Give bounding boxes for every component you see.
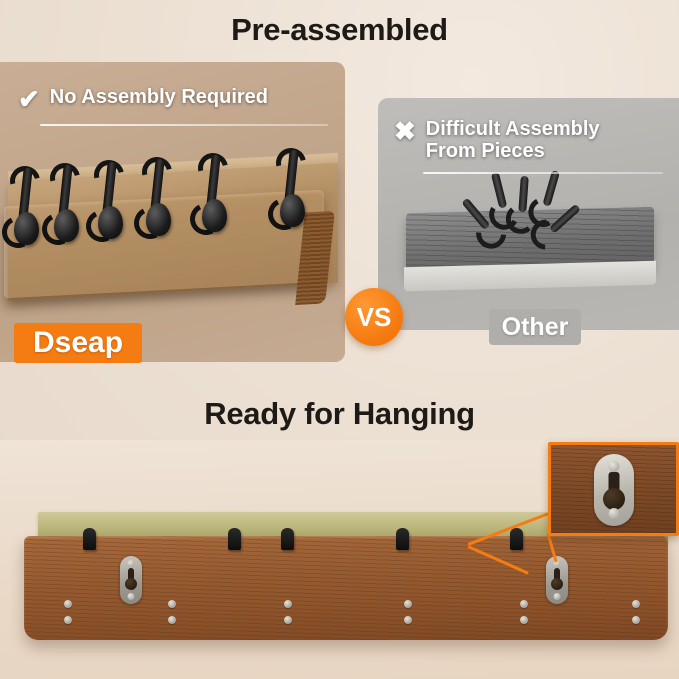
mounting-screw — [632, 616, 640, 624]
page-title-top: Pre-assembled — [0, 12, 679, 48]
coat-hook — [140, 159, 174, 237]
mounting-screw — [284, 616, 292, 624]
mounting-screw — [168, 616, 176, 624]
hook-tip — [281, 528, 294, 550]
keyhole-hanger-zoomed — [594, 454, 634, 526]
mounting-screw — [632, 600, 640, 608]
mounting-screw — [168, 600, 176, 608]
mounting-screw — [520, 616, 528, 624]
versus-badge: VS — [345, 288, 403, 346]
mounting-screw — [64, 616, 72, 624]
coat-hook — [48, 165, 82, 243]
left-panel-heading-group: ✔ No Assembly Required — [18, 86, 268, 112]
mounting-screw — [404, 600, 412, 608]
keyhole-hanger — [546, 556, 568, 604]
right-panel-divider — [423, 172, 663, 174]
mounting-screw — [64, 600, 72, 608]
brand-badge-other: Other — [489, 309, 581, 345]
right-panel-heading-line2: From Pieces — [426, 140, 545, 162]
check-icon: ✔ — [18, 86, 40, 112]
hook-tip — [396, 528, 409, 550]
right-panel-heading-line1: Difficult Assembly — [426, 118, 600, 140]
infographic-root: Pre-assembled ✔ No Assembly Required — [0, 0, 679, 679]
hook-tip — [83, 528, 96, 550]
right-panel-heading-group: ✖ Difficult Assembly From Pieces — [394, 118, 600, 163]
mounting-screw — [520, 600, 528, 608]
mounting-screw — [284, 600, 292, 608]
hook-tip — [510, 528, 523, 550]
keyhole-hanger — [120, 556, 142, 604]
left-panel-divider — [40, 124, 328, 126]
brand-badge-dseap: Dseap — [14, 323, 142, 363]
hook-tip — [228, 528, 241, 550]
coat-hook — [8, 168, 42, 246]
left-panel-heading: No Assembly Required — [50, 86, 268, 108]
right-panel-heading: Difficult Assembly From Pieces — [426, 118, 600, 163]
coat-hook — [92, 162, 126, 240]
keyhole-detail-callout — [548, 442, 679, 536]
cross-icon: ✖ — [394, 118, 416, 144]
mounting-screw — [404, 616, 412, 624]
coat-hook — [274, 150, 308, 228]
panel-dseap: ✔ No Assembly Required — [0, 62, 345, 362]
coat-hook — [196, 155, 230, 233]
panel-other: ✖ Difficult Assembly From Pieces — [378, 98, 679, 330]
page-title-bottom: Ready for Hanging — [0, 396, 679, 432]
